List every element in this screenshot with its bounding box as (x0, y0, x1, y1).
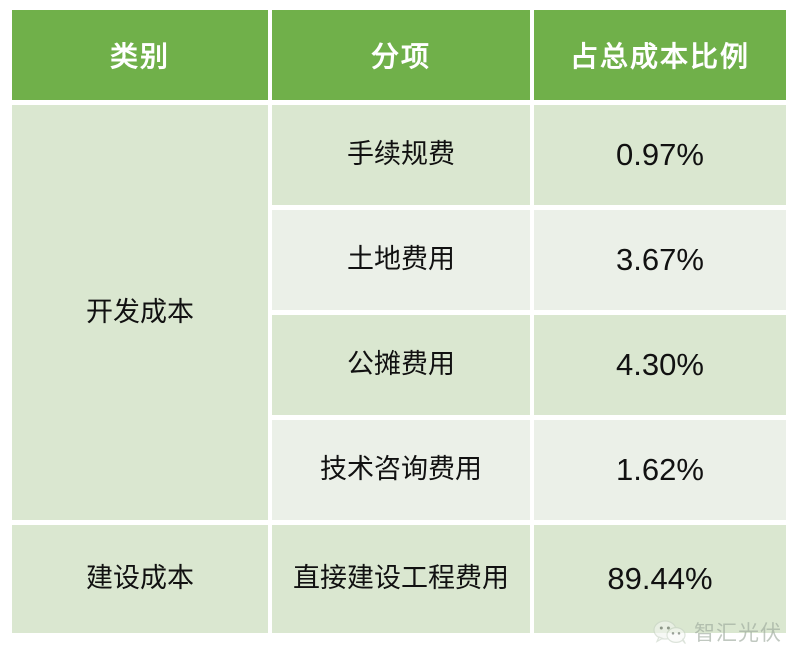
table-header: 类别 分项 占总成本比例 (12, 10, 786, 100)
category-cell-construction: 建设成本 (12, 525, 268, 633)
subitem-cell: 直接建设工程费用 (272, 525, 530, 633)
header-share: 占总成本比例 (534, 10, 786, 100)
subitem-cell: 土地费用 (272, 210, 530, 310)
cost-breakdown-table-root: 类别 分项 占总成本比例 开发成本 手续规费 0.97% 土地费用 3.67% … (0, 0, 800, 663)
subitem-cell: 技术咨询费用 (272, 420, 530, 520)
share-value-cell: 3.67% (534, 210, 786, 310)
header-category: 类别 (12, 10, 268, 100)
table-body: 开发成本 手续规费 0.97% 土地费用 3.67% 公摊费用 4.30% 技术… (12, 105, 786, 633)
share-value-cell: 1.62% (534, 420, 786, 520)
share-value-cell: 0.97% (534, 105, 786, 205)
table-row: 开发成本 手续规费 0.97% (12, 105, 786, 205)
subitem-cell: 手续规费 (272, 105, 530, 205)
share-value-cell: 89.44% (534, 525, 786, 633)
cost-breakdown-table: 类别 分项 占总成本比例 开发成本 手续规费 0.97% 土地费用 3.67% … (8, 5, 790, 638)
subitem-cell: 公摊费用 (272, 315, 530, 415)
table-row: 建设成本 直接建设工程费用 89.44% (12, 525, 786, 633)
category-cell-development: 开发成本 (12, 105, 268, 520)
header-subitem: 分项 (272, 10, 530, 100)
table-header-row: 类别 分项 占总成本比例 (12, 10, 786, 100)
share-value-cell: 4.30% (534, 315, 786, 415)
